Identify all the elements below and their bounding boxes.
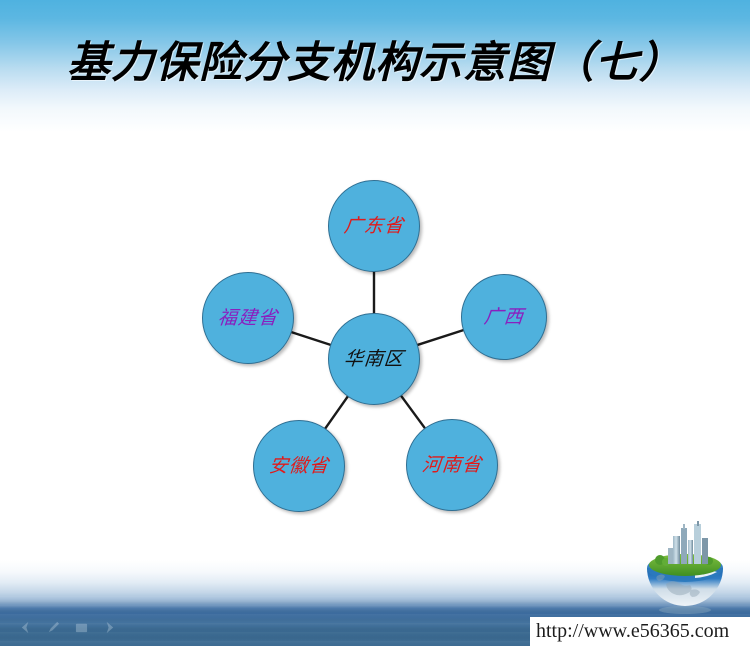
pen-icon[interactable]: [46, 621, 61, 634]
globe-city-skyline: [668, 521, 708, 564]
diagram-edge-center-to-henan: [398, 391, 429, 433]
diagram-node-label-anhui: 安徽省: [268, 457, 330, 476]
next-arrow-icon[interactable]: [102, 621, 117, 634]
diagram-node-henan[interactable]: 河南省: [406, 419, 498, 511]
globe-reflection: [659, 606, 711, 614]
presentation-slide: 基力保险分支机构示意图（七） 华南区广东省广西河南省安徽省福建省: [0, 0, 750, 646]
previous-arrow-icon[interactable]: [18, 621, 33, 634]
diagram-edge-center-to-anhui: [322, 392, 351, 433]
url-watermark: http://www.e56365.com: [530, 617, 750, 646]
slide-menu-icon[interactable]: [74, 621, 89, 634]
diagram-node-center[interactable]: 华南区: [328, 313, 420, 405]
diagram-node-guangxi[interactable]: 广西: [461, 274, 547, 360]
diagram-edge-center-to-guangxi: [412, 328, 469, 346]
globe-city-graphic: [633, 518, 737, 616]
diagram-edge-center-to-fujian: [286, 330, 336, 346]
url-watermark-text: http://www.e56365.com: [530, 620, 729, 643]
diagram-node-anhui[interactable]: 安徽省: [253, 420, 345, 512]
diagram-node-label-guangdong: 广东省: [343, 217, 405, 236]
presentation-nav-bar[interactable]: [18, 621, 117, 634]
diagram-node-label-fujian: 福建省: [217, 309, 279, 328]
diagram-node-label-center: 华南区: [343, 350, 405, 369]
diagram-node-guangdong[interactable]: 广东省: [328, 180, 420, 272]
diagram-node-label-guangxi: 广西: [483, 308, 525, 327]
diagram-node-fujian[interactable]: 福建省: [202, 272, 294, 364]
diagram-node-label-henan: 河南省: [421, 456, 483, 475]
